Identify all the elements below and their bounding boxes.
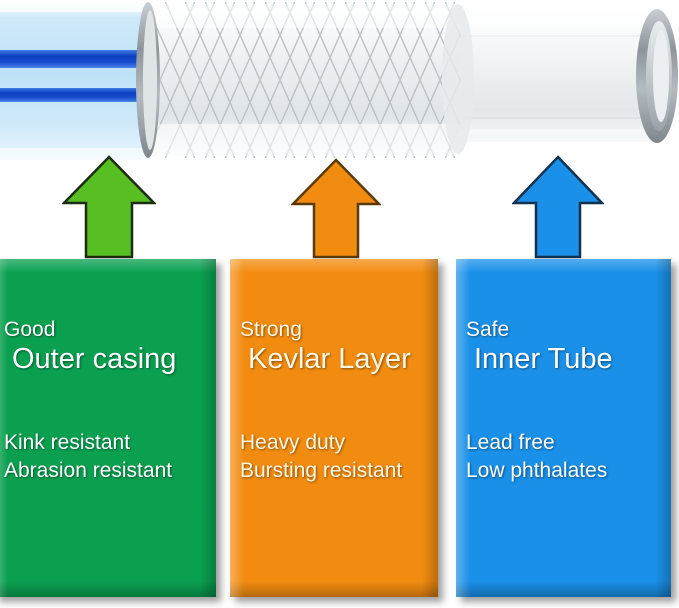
spacer	[238, 375, 438, 427]
panel-kevlar-layer-feature-2: Bursting resistant	[240, 460, 438, 483]
panel-kevlar-layer[interactable]: Strong Kevlar Layer Heavy duty Bursting …	[230, 259, 438, 597]
panel-inner-tube-feature-1: Lead free	[466, 432, 671, 455]
arrow-inner-tube	[512, 155, 604, 259]
panel-kevlar-layer-kicker: Strong	[240, 319, 438, 342]
panel-outer-casing-content: Good Outer casing Kink resistant Abrasio…	[0, 259, 216, 597]
hose-cutaway-illustration	[0, 0, 679, 170]
inner-tube-layer	[452, 9, 678, 143]
panel-outer-casing[interactable]: Good Outer casing Kink resistant Abrasio…	[0, 259, 216, 597]
arrow-kevlar-layer	[291, 158, 381, 259]
arrow-outer-casing	[62, 155, 156, 259]
panel-outer-casing-feature-1: Kink resistant	[4, 432, 216, 455]
panel-inner-tube-feature-2: Low phthalates	[466, 460, 671, 483]
panel-inner-tube-title: Inner Tube	[474, 344, 671, 375]
panel-outer-casing-kicker: Good	[4, 319, 216, 342]
panel-kevlar-layer-feature-1: Heavy duty	[240, 432, 438, 455]
outer-casing-layer	[0, 2, 160, 160]
panel-inner-tube-kicker: Safe	[466, 319, 671, 342]
spacer	[464, 375, 671, 427]
panel-outer-casing-feature-2: Abrasion resistant	[4, 460, 216, 483]
panel-kevlar-layer-content: Strong Kevlar Layer Heavy duty Bursting …	[230, 259, 438, 597]
panel-kevlar-layer-title: Kevlar Layer	[248, 344, 438, 375]
hose-layers-infographic: Good Outer casing Kink resistant Abrasio…	[0, 0, 679, 608]
spacer	[2, 375, 216, 427]
panel-inner-tube[interactable]: Safe Inner Tube Lead free Low phthalates	[456, 259, 671, 597]
hose-illustration-svg	[0, 0, 679, 170]
panel-inner-tube-content: Safe Inner Tube Lead free Low phthalates	[456, 259, 671, 597]
panel-outer-casing-title: Outer casing	[12, 344, 216, 375]
